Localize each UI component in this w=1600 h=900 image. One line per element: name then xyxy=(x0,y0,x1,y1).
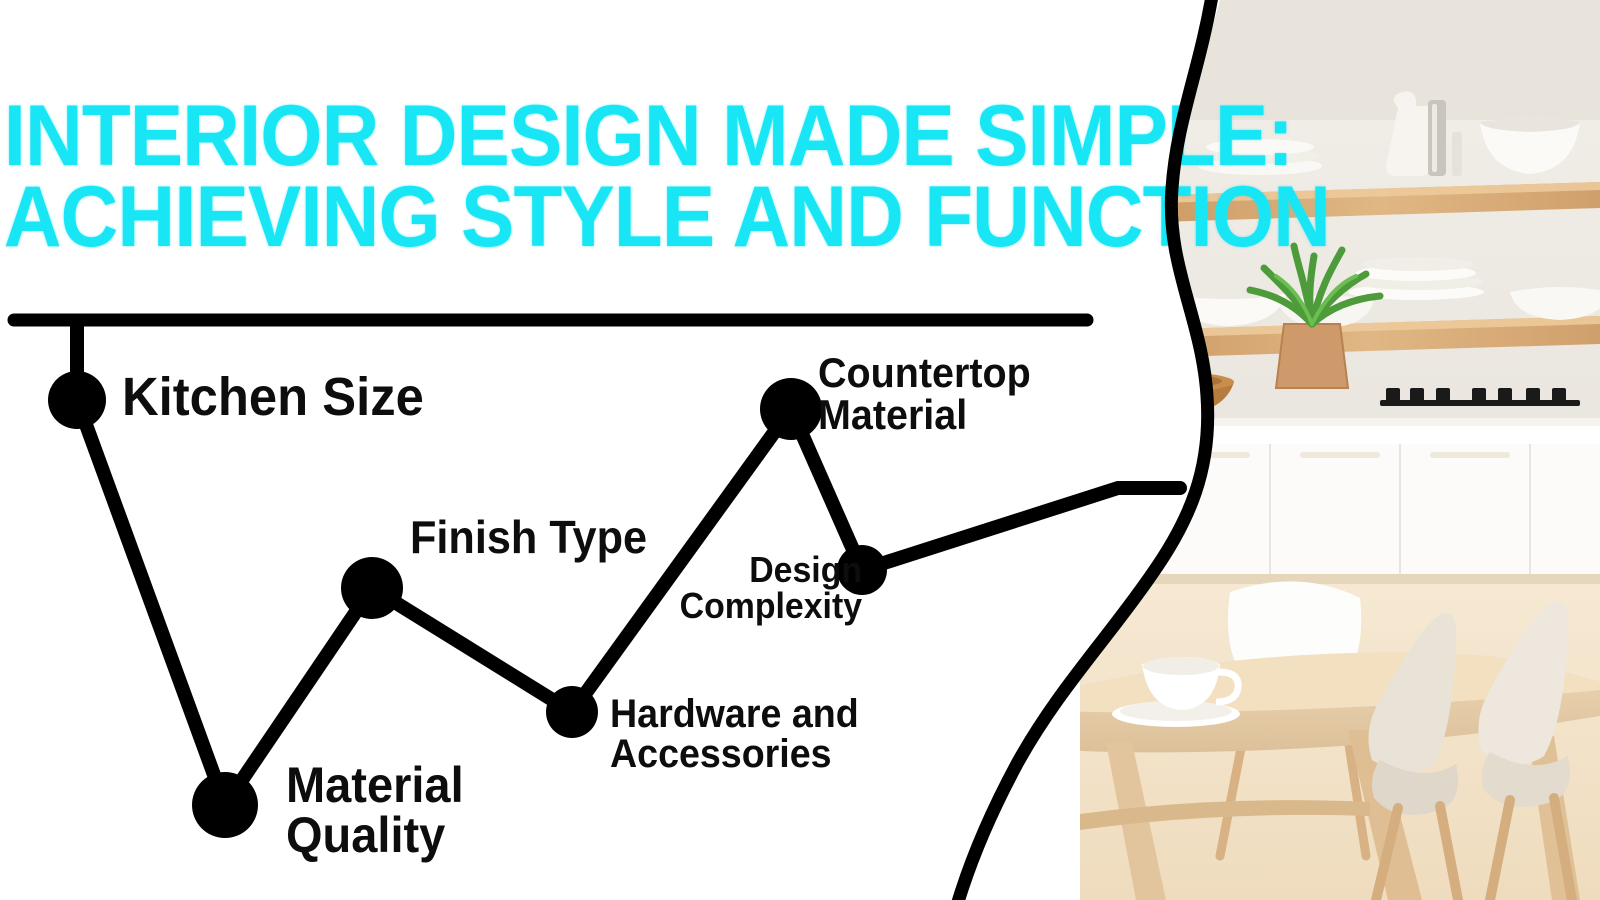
data-point-material-quality xyxy=(192,772,258,838)
title-line-2: ACHIEVING STYLE AND FUNCTION xyxy=(0,177,1042,258)
label-finish-type: Finish Type xyxy=(410,514,647,560)
infographic-canvas: INTERIOR DESIGN MADE SIMPLE: ACHIEVING S… xyxy=(0,0,1600,900)
data-point-finish-type xyxy=(341,557,403,619)
data-point-hardware-accessories xyxy=(546,686,598,738)
page-title: INTERIOR DESIGN MADE SIMPLE: ACHIEVING S… xyxy=(0,96,1120,258)
data-point-kitchen-size xyxy=(48,371,106,429)
label-countertop-material: Countertop Material xyxy=(818,352,1031,436)
data-point-countertop-material xyxy=(760,378,822,440)
label-hardware-accessories: Hardware and Accessories xyxy=(610,694,859,774)
title-line-1: INTERIOR DESIGN MADE SIMPLE: xyxy=(0,96,1042,177)
label-kitchen-size: Kitchen Size xyxy=(122,370,424,424)
label-design-complexity: Design Complexity xyxy=(680,552,862,624)
label-material-quality: Material Quality xyxy=(286,760,464,860)
